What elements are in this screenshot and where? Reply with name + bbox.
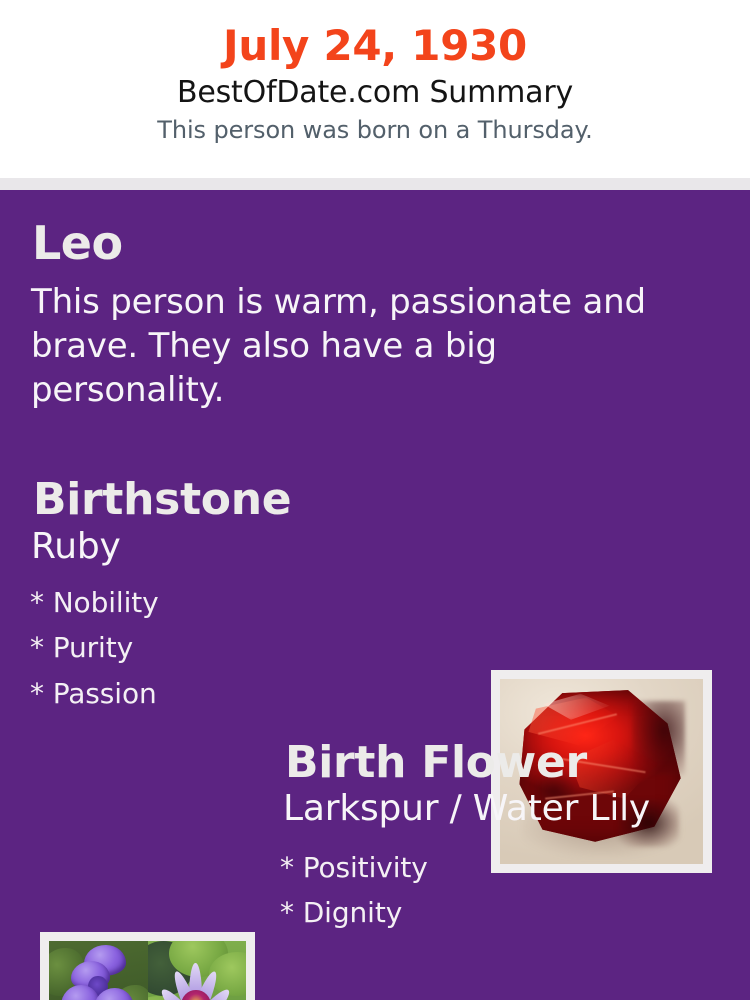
zodiac-sign-title: Leo [32,220,123,266]
page-title-date: July 24, 1930 [0,24,750,68]
header-panel: July 24, 1930 BestOfDate.com Summary Thi… [0,0,750,178]
birthflower-trait-list: * Positivity * Dignity [280,845,428,936]
body-panel: Leo This person is warm, passionate and … [0,190,750,1000]
section-divider [0,178,750,190]
summary-card: July 24, 1930 BestOfDate.com Summary Thi… [0,0,750,1000]
list-item: * Positivity [280,845,428,890]
birthflower-heading: Birth Flower [285,741,587,785]
larkspur-water-lily-photo [49,941,246,1000]
birthflower-image-frame [40,932,255,1000]
flower-composite [49,941,246,1000]
list-item: * Passion [30,671,159,716]
larkspur-photo-half [49,941,148,1000]
water-lily-photo-half [148,941,247,1000]
zodiac-description: This person is warm, passionate and brav… [31,281,691,413]
list-item: * Dignity [280,890,428,935]
list-item: * Purity [30,625,159,670]
birthstone-heading: Birthstone [33,478,291,522]
birthstone-trait-list: * Nobility * Purity * Passion [30,580,159,716]
list-item: * Nobility [30,580,159,625]
weekday-statement: This person was born on a Thursday. [0,115,750,145]
birthflower-name: Larkspur / Water Lily [283,791,650,827]
birthstone-name: Ruby [31,529,121,565]
site-name: BestOfDate.com Summary [0,74,750,112]
